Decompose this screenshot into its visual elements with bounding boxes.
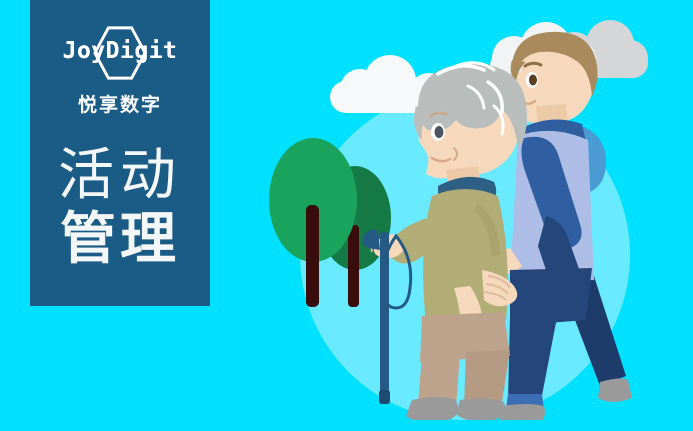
brand-logo: JoyDigit — [30, 22, 210, 88]
page-title-line-2: 管理 — [30, 207, 210, 271]
elderly-woman-figure — [372, 63, 527, 420]
poster-canvas: JoyDigit 悦享数字 活动 管理 An elderly woman wit… — [0, 0, 693, 431]
illustration-alt-text: An elderly woman with a cane walking bes… — [0, 0, 1, 1]
info-panel: JoyDigit 悦享数字 活动 管理 — [30, 0, 210, 306]
logo-wordmark: JoyDigit — [30, 38, 210, 64]
walking-figures-illustration — [360, 20, 680, 420]
page-title-line-1: 活动 — [30, 143, 210, 207]
page-title: 活动 管理 — [30, 143, 210, 271]
logo-subtitle: 悦享数字 — [30, 90, 210, 117]
tree-front — [269, 138, 357, 307]
